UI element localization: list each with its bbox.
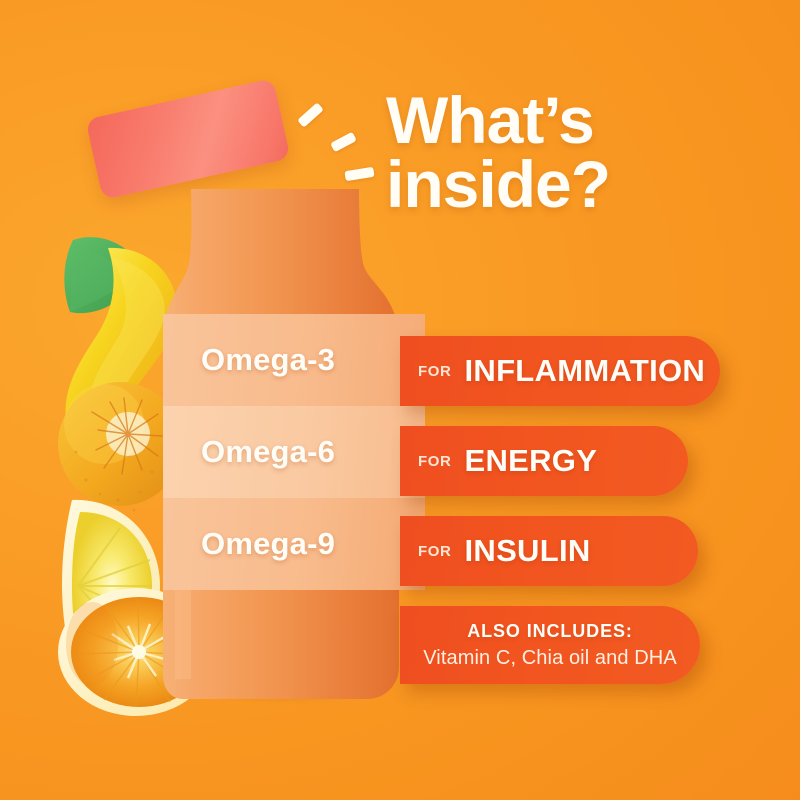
also-includes-pill[interactable]: ALSO INCLUDES: Vitamin C, Chia oil and D… <box>400 606 700 684</box>
page-title-line-2: inside? <box>386 152 766 216</box>
label-band-omega-6: Omega-6 <box>163 406 425 498</box>
page-title-line-1: What’s <box>386 88 766 152</box>
bottle-cap <box>85 78 290 200</box>
poster-canvas: Omega-3 Omega-6 Omega-9 FOR INFLAMMATION… <box>0 0 800 800</box>
benefit-pill-energy[interactable]: FOR ENERGY <box>400 426 688 496</box>
benefit-text-inflammation: INFLAMMATION <box>464 353 705 389</box>
also-includes-body: Vitamin C, Chia oil and DHA <box>423 647 677 670</box>
benefit-text-insulin: INSULIN <box>464 533 590 569</box>
label-band-omega-3: Omega-3 <box>163 314 425 406</box>
for-label-energy: FOR <box>418 453 451 470</box>
label-text-omega-9: Omega-9 <box>201 526 335 562</box>
benefit-pill-insulin[interactable]: FOR INSULIN <box>400 516 698 586</box>
also-includes-title: ALSO INCLUDES: <box>467 621 633 642</box>
label-text-omega-3: Omega-3 <box>201 342 335 378</box>
benefit-pill-inflammation[interactable]: FOR INFLAMMATION <box>400 336 720 406</box>
benefit-text-energy: ENERGY <box>464 443 597 479</box>
for-label-insulin: FOR <box>418 543 451 560</box>
label-band-omega-9: Omega-9 <box>163 498 425 590</box>
label-text-omega-6: Omega-6 <box>201 434 335 470</box>
page-title: What’s inside? <box>386 88 766 216</box>
for-label-inflammation: FOR <box>418 363 451 380</box>
